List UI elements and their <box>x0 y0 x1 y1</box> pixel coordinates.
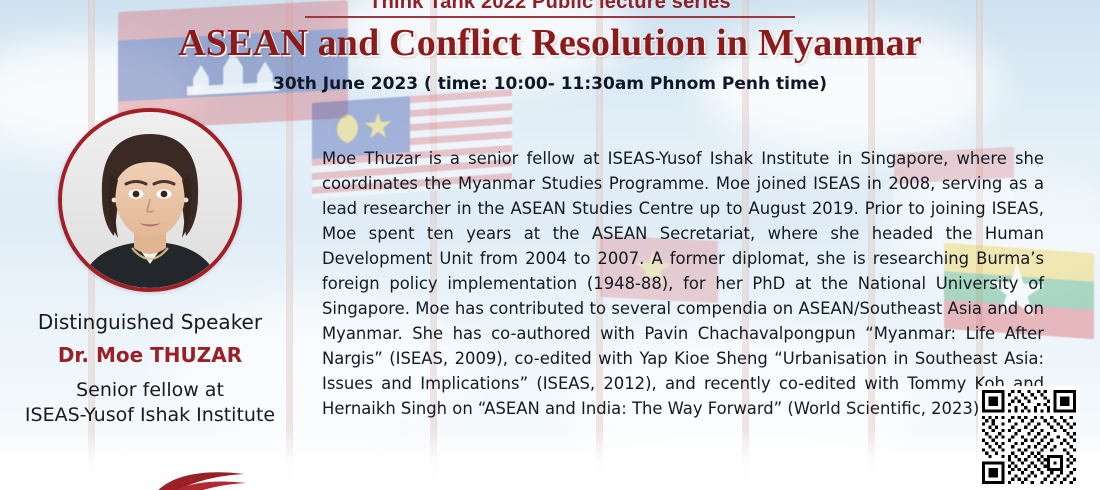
speaker-panel: Distinguished Speaker Dr. Moe THUZAR Sen… <box>0 108 300 426</box>
page-title: ASEAN and Conflict Resolution in Myanmar <box>0 21 1100 65</box>
speaker-role-label: Distinguished Speaker <box>0 310 300 334</box>
speaker-affiliation-line2: ISEAS-Yusof Ishak Institute <box>0 404 300 426</box>
portrait-illustration <box>62 112 238 288</box>
event-datetime: 30th June 2023 ( time: 10:00- 11:30am Ph… <box>0 74 1100 94</box>
event-poster: Think Tank 2022 Public lecture series AS… <box>0 0 1100 490</box>
organisation-logo-swoosh-icon <box>148 458 264 490</box>
series-banner: Think Tank 2022 Public lecture series <box>305 0 795 18</box>
qr-code-icon[interactable] <box>978 386 1080 488</box>
speaker-biography: Moe Thuzar is a senior fellow at ISEAS-Y… <box>322 146 1044 421</box>
speaker-affiliation-line1: Senior fellow at <box>0 379 300 401</box>
speaker-name: Dr. Moe THUZAR <box>0 343 300 367</box>
avatar <box>58 108 242 292</box>
